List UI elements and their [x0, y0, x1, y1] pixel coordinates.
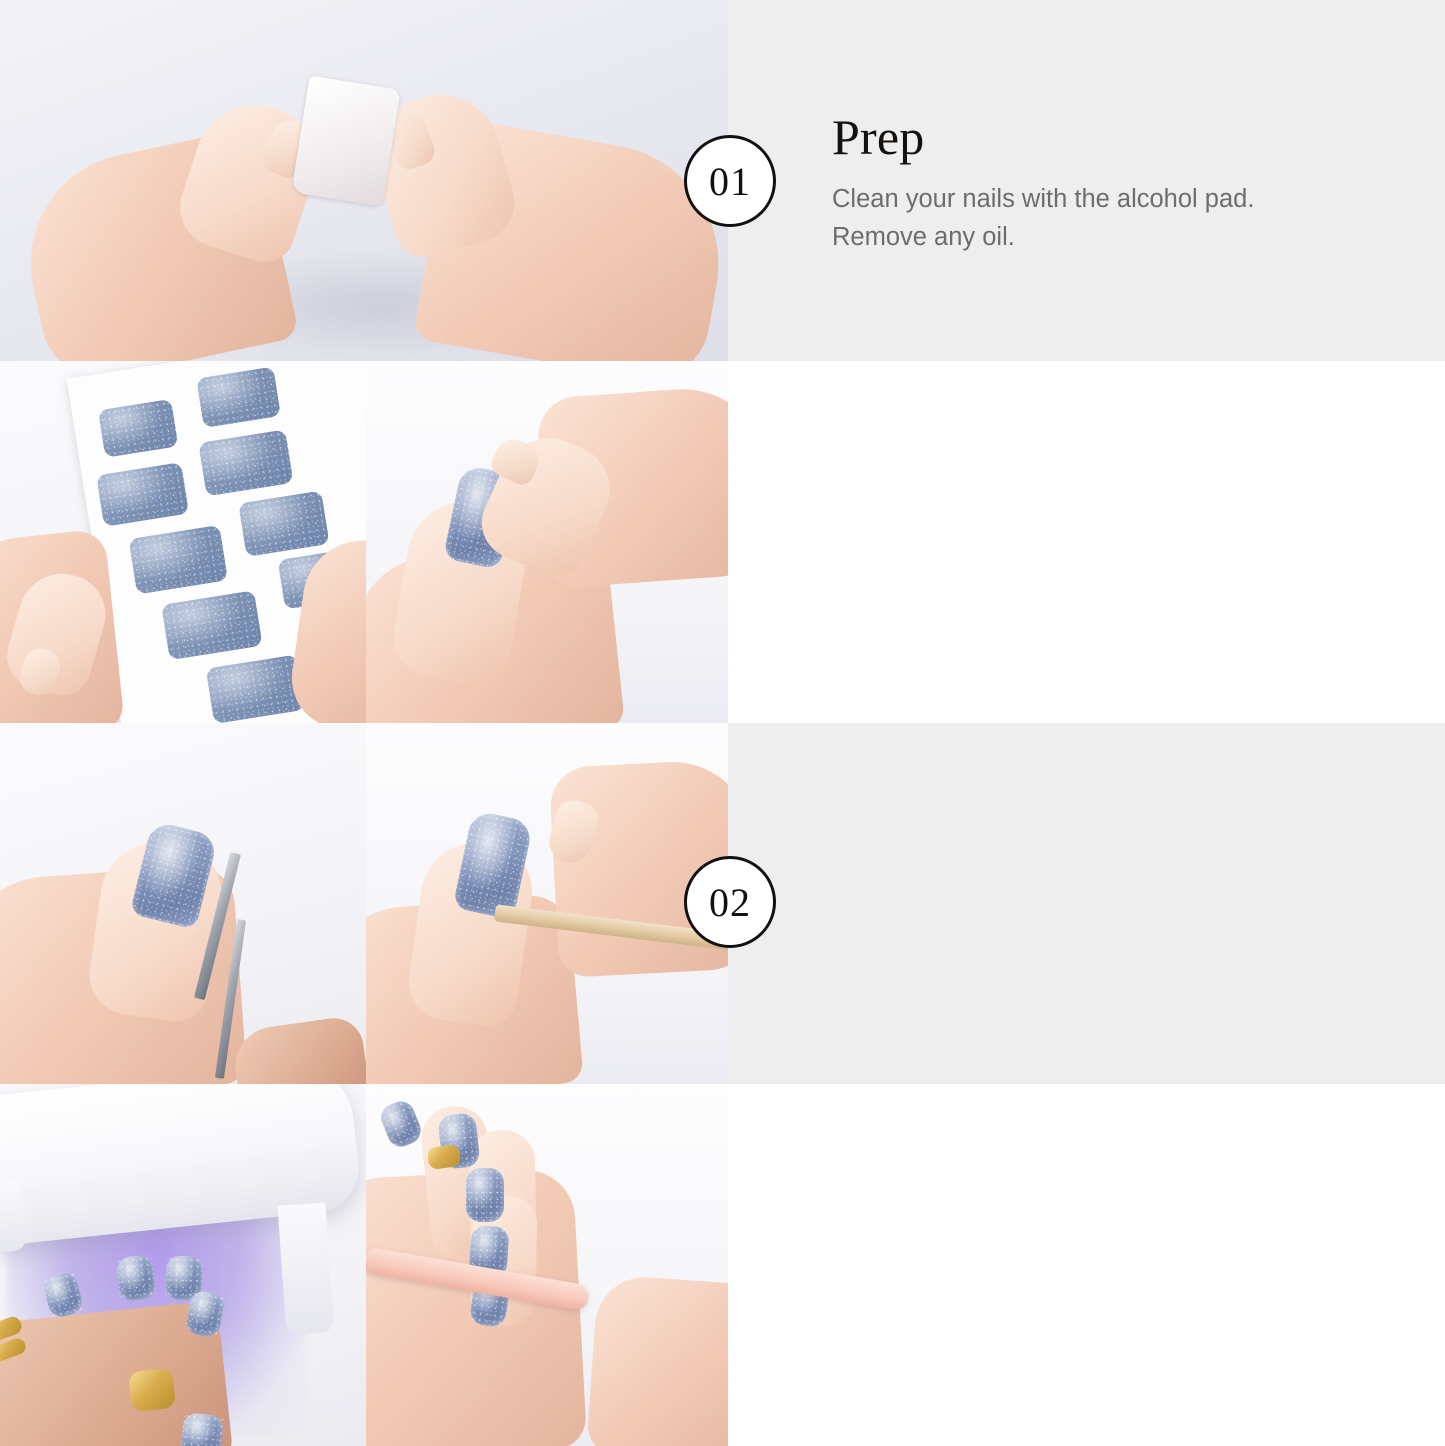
step-row-04: 04 Cure & Smooth Cure the strips under U…	[0, 1084, 1445, 1446]
step-photos-03	[0, 723, 728, 1084]
photo-nail-strip-sheet-in-hand	[0, 361, 366, 723]
instruction-graphic: 01 Prep Clean your nails with the alcoho…	[0, 0, 1445, 1446]
photo-pressing-edges-with-cuticle-stick	[366, 723, 728, 1084]
step-number-badge-01: 01	[684, 135, 776, 227]
step-photos-01	[0, 0, 728, 361]
step-description-line: Clean your nails with the alcohol pad.	[832, 180, 1412, 218]
photo-applying-strip-to-thumb	[366, 361, 728, 723]
alcohol-pad	[291, 76, 400, 207]
step-row-01: 01 Prep Clean your nails with the alcoho…	[0, 0, 1445, 361]
step-photos-02	[0, 361, 728, 723]
right-hand-shape	[586, 1274, 728, 1446]
photo-trimming-strip-with-scissors	[0, 723, 366, 1084]
photo-curing-under-uv-lamp	[0, 1084, 366, 1446]
photo-hands-holding-alcohol-pad	[0, 0, 728, 361]
photo-filing-nail-edges	[366, 1084, 728, 1446]
step-description-01: Clean your nails with the alcohol pad. R…	[832, 180, 1412, 256]
gold-ring-ring-finger	[128, 1368, 176, 1412]
step-number-text: 01	[709, 158, 751, 205]
step-description-line: Remove any oil.	[832, 218, 1412, 256]
step-number-text: 02	[709, 879, 751, 926]
step-row-02: 02 Select & Apply Select the strip sligh…	[0, 361, 1445, 723]
step-photos-04	[0, 1084, 728, 1446]
step-title-01: Prep	[832, 110, 1412, 164]
step-number-badge-02: 02	[684, 856, 776, 948]
uv-lamp-leg-right	[278, 1202, 335, 1335]
step-text-01: Prep Clean your nails with the alcohol p…	[832, 110, 1412, 256]
